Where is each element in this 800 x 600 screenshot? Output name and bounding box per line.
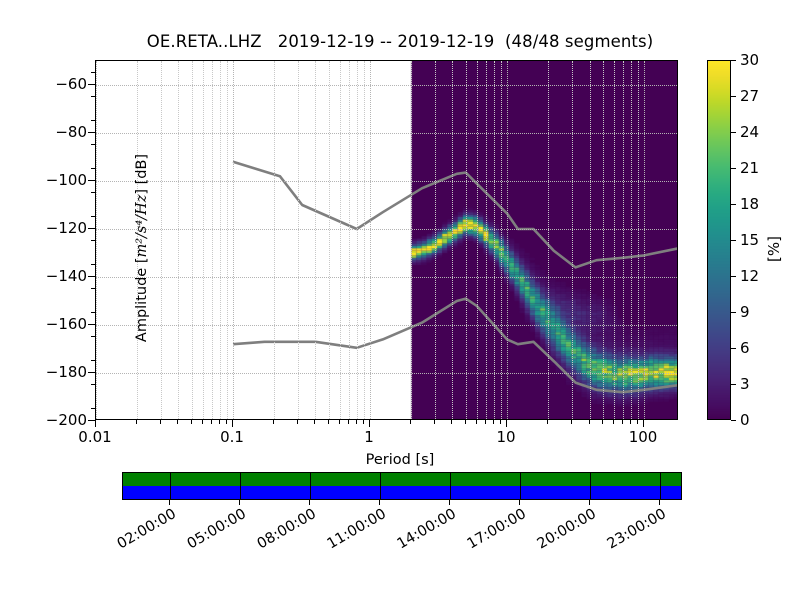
colorbar-tick: [731, 348, 736, 349]
x-axis-title: Period [s]: [0, 452, 800, 468]
colorbar-tick: [731, 276, 736, 277]
colorbar-tick-label: 24: [740, 123, 759, 141]
grid-line-vertical: [96, 61, 97, 419]
grid-line-vertical: [507, 61, 508, 419]
grid-line-horizontal: [96, 325, 677, 326]
y-axis-tick-minor: [91, 312, 95, 313]
time-axis-tick-label: 20:00:00: [528, 506, 598, 556]
time-coverage-tick: [170, 473, 171, 499]
colorbar-tick: [731, 96, 736, 97]
ppsd-axes[interactable]: [95, 60, 678, 420]
y-axis-tick: [88, 420, 95, 421]
x-axis-tick: [434, 420, 435, 424]
y-axis-tick-label: −140: [46, 267, 87, 285]
time-axis-tick: [169, 500, 170, 505]
x-axis-tick: [465, 420, 466, 424]
y-axis-tick-minor: [91, 168, 95, 169]
y-axis-tick: [88, 276, 95, 277]
time-axis-tick-label: 23:00:00: [598, 506, 668, 556]
time-axis-tick-label: 02:00:00: [108, 506, 178, 556]
time-coverage-gaps: [123, 486, 681, 499]
grid-line-vertical: [227, 61, 228, 419]
y-axis-tick-label: −80: [55, 123, 87, 141]
x-axis-tick-label: 0.1: [220, 428, 244, 446]
time-axis-tick-label: 17:00:00: [458, 506, 528, 556]
y-axis-title-units: m²/s⁴/Hz: [134, 195, 150, 258]
x-axis-tick: [363, 420, 364, 424]
x-axis-tick: [369, 420, 370, 427]
x-axis-tick: [211, 420, 212, 424]
time-coverage-data: [123, 473, 681, 486]
grid-line-horizontal: [96, 373, 677, 374]
grid-line-vertical: [178, 61, 179, 419]
x-axis-tick-label: 100: [629, 428, 658, 446]
x-axis-tick: [273, 420, 274, 424]
grid-line-vertical: [298, 61, 299, 419]
ppsd-figure: OE.RETA..LHZ 2019-12-19 -- 2019-12-19 (4…: [0, 0, 800, 600]
grid-line-vertical: [477, 61, 478, 419]
time-coverage-tick: [380, 473, 381, 499]
y-axis-tick-label: −160: [46, 315, 87, 333]
x-axis-tick: [506, 420, 507, 427]
grid-line-horizontal: [96, 181, 677, 182]
time-coverage-tick: [660, 473, 661, 499]
grid-line-vertical: [349, 61, 350, 419]
grid-line-vertical: [631, 61, 632, 419]
y-axis-tick-minor: [91, 408, 95, 409]
grid-line-vertical: [233, 61, 234, 419]
time-axis-tick-label: 05:00:00: [178, 506, 248, 556]
colorbar-tick: [731, 312, 736, 313]
y-axis-title: Amplitude [m²/s⁴/Hz] [dB]: [134, 98, 150, 398]
y-axis-tick-minor: [91, 96, 95, 97]
y-axis-tick-minor: [91, 264, 95, 265]
y-axis-tick: [88, 324, 95, 325]
time-axis-tick: [449, 500, 450, 505]
colorbar-tick-label: 3: [740, 375, 750, 393]
x-axis-tick: [613, 420, 614, 424]
colorbar-tick-label: 21: [740, 159, 759, 177]
colorbar-tick-label: 27: [740, 87, 759, 105]
y-axis-tick: [88, 180, 95, 181]
y-axis-title-prefix: Amplitude [: [134, 258, 150, 343]
colorbar-container[interactable]: 302724211815129630: [707, 60, 731, 420]
x-axis-tick: [95, 420, 96, 427]
y-axis-tick-minor: [91, 336, 95, 337]
x-axis-tick: [493, 420, 494, 424]
grid-line-vertical: [161, 61, 162, 419]
x-axis-tick: [485, 420, 486, 424]
colorbar-tick: [731, 420, 736, 421]
time-axis-tick: [589, 500, 590, 505]
grid-line-vertical: [370, 61, 371, 419]
y-axis-tick-minor: [91, 216, 95, 217]
time-coverage-tick: [310, 473, 311, 499]
x-axis-tick: [160, 420, 161, 424]
colorbar-tick-label: 18: [740, 195, 759, 213]
grid-line-vertical: [486, 61, 487, 419]
y-axis-tick: [88, 84, 95, 85]
x-axis-tick: [191, 420, 192, 424]
x-axis-tick: [637, 420, 638, 424]
time-axis-tick: [239, 500, 240, 505]
x-axis-tick: [328, 420, 329, 424]
grid-line-vertical: [357, 61, 358, 419]
x-axis-tick: [219, 420, 220, 424]
y-axis-tick-label: −200: [46, 411, 87, 429]
y-axis-tick-minor: [91, 240, 95, 241]
time-axis-tick-label: 14:00:00: [388, 506, 458, 556]
y-axis-tick-minor: [91, 72, 95, 73]
grid-line-vertical: [364, 61, 365, 419]
x-axis-tick: [602, 420, 603, 424]
grid-line-vertical: [548, 61, 549, 419]
x-axis-tick: [589, 420, 590, 424]
time-axis-tick: [519, 500, 520, 505]
x-axis-tick: [500, 420, 501, 424]
colorbar-tick-label: 15: [740, 231, 759, 249]
y-axis-tick: [88, 132, 95, 133]
x-axis-tick: [630, 420, 631, 424]
colorbar-tick: [731, 168, 736, 169]
x-axis-tick: [339, 420, 340, 424]
colorbar-gradient: [707, 60, 731, 420]
grid-line-vertical: [466, 61, 467, 419]
grid-line-horizontal: [96, 277, 677, 278]
colorbar-tick-label: 30: [740, 51, 759, 69]
time-coverage-tick: [590, 473, 591, 499]
time-axis-tick: [309, 500, 310, 505]
x-axis-tick: [571, 420, 572, 424]
page-title: OE.RETA..LHZ 2019-12-19 -- 2019-12-19 (4…: [0, 32, 800, 51]
x-axis-tick-label: 10: [496, 428, 515, 446]
x-axis-tick-label: 0.01: [78, 428, 111, 446]
time-axis-tick: [659, 500, 660, 505]
grid-line-vertical: [315, 61, 316, 419]
y-axis-tick-minor: [91, 288, 95, 289]
y-axis-title-suffix: ] [dB]: [134, 154, 150, 195]
x-axis-tick: [136, 420, 137, 424]
grid-line-vertical: [494, 61, 495, 419]
x-axis-tick: [177, 420, 178, 424]
y-axis-tick-minor: [91, 144, 95, 145]
colorbar-tick: [731, 60, 736, 61]
colorbar-tick: [731, 240, 736, 241]
x-axis-tick: [297, 420, 298, 424]
time-coverage-tick: [520, 473, 521, 499]
grid-line-vertical: [614, 61, 615, 419]
grid-line-vertical: [452, 61, 453, 419]
y-axis-tick-label: −180: [46, 363, 87, 381]
grid-line-vertical: [644, 61, 645, 419]
x-axis-tick: [622, 420, 623, 424]
grid-line-vertical: [623, 61, 624, 419]
x-axis-tick: [314, 420, 315, 424]
y-axis-tick-label: −60: [55, 75, 87, 93]
noise-model-nhnm: [233, 162, 678, 268]
grid-line-vertical: [638, 61, 639, 419]
time-axis-tick-label: 08:00:00: [248, 506, 318, 556]
grid-line-vertical: [501, 61, 502, 419]
colorbar-tick-label: 0: [740, 411, 750, 429]
grid-line-vertical: [212, 61, 213, 419]
grid-line-horizontal: [96, 229, 677, 230]
grid-line-vertical: [435, 61, 436, 419]
grid-line-horizontal: [96, 85, 677, 86]
colorbar-tick-label: 9: [740, 303, 750, 321]
x-axis-tick: [356, 420, 357, 424]
grid-line-vertical: [603, 61, 604, 419]
noise-model-curves: [96, 61, 678, 420]
grid-line-vertical: [329, 61, 330, 419]
x-axis-tick: [643, 420, 644, 427]
grid-line-vertical: [274, 61, 275, 419]
grid-line-vertical: [572, 61, 573, 419]
colorbar-tick: [731, 132, 736, 133]
x-axis-tick: [410, 420, 411, 424]
grid-line-horizontal: [96, 133, 677, 134]
x-axis-tick: [202, 420, 203, 424]
grid-line-vertical: [220, 61, 221, 419]
x-axis-tick-label: 1: [364, 428, 374, 446]
grid-line-vertical: [203, 61, 204, 419]
y-axis-tick-minor: [91, 360, 95, 361]
colorbar-tick: [731, 384, 736, 385]
y-axis-tick: [88, 372, 95, 373]
grid-line-vertical: [411, 61, 412, 419]
colorbar-tick-label: 12: [740, 267, 759, 285]
x-axis-tick: [232, 420, 233, 427]
y-axis-tick-label: −120: [46, 219, 87, 237]
time-coverage-bar[interactable]: [122, 472, 682, 500]
colorbar-tick-label: 6: [740, 339, 750, 357]
y-axis-tick: [88, 228, 95, 229]
x-axis-tick: [226, 420, 227, 424]
grid-line-vertical: [340, 61, 341, 419]
y-axis-tick-minor: [91, 120, 95, 121]
grid-line-vertical: [192, 61, 193, 419]
x-axis-tick: [348, 420, 349, 424]
time-axis-tick-label: 11:00:00: [318, 506, 388, 556]
colorbar-tick: [731, 204, 736, 205]
y-axis-tick-minor: [91, 384, 95, 385]
colorbar-title: [%]: [765, 236, 783, 262]
grid-line-vertical: [590, 61, 591, 419]
time-coverage-tick: [450, 473, 451, 499]
x-axis-tick: [476, 420, 477, 424]
y-axis-tick-minor: [91, 192, 95, 193]
noise-model-nlnm: [233, 299, 678, 393]
time-coverage-tick: [240, 473, 241, 499]
x-axis-tick: [451, 420, 452, 424]
x-axis-tick: [547, 420, 548, 424]
y-axis-tick-label: −100: [46, 171, 87, 189]
time-axis-tick: [379, 500, 380, 505]
